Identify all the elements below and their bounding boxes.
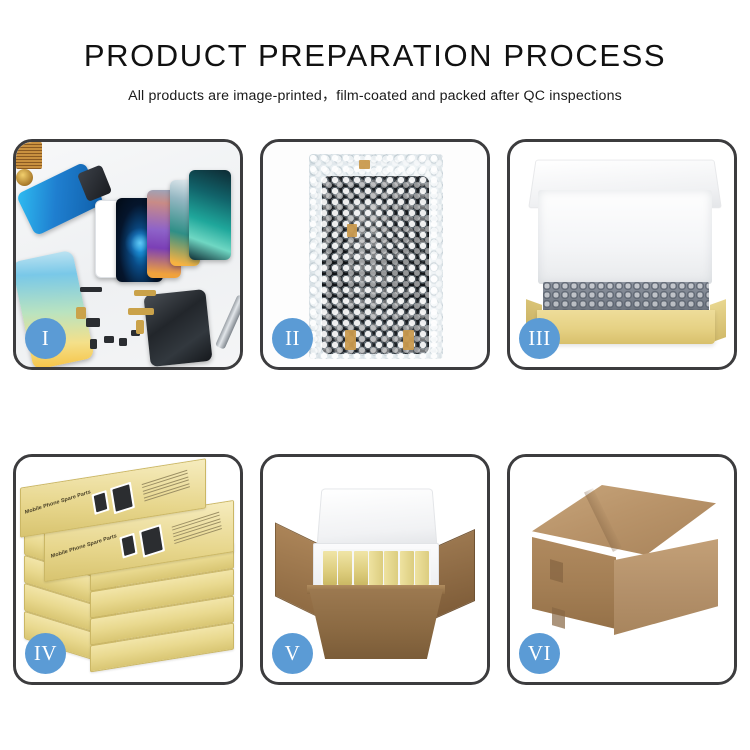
step-badge-1: I [25, 318, 66, 359]
process-step-panel-3: III [507, 139, 737, 370]
process-step-panel-5: V [260, 454, 490, 685]
foam-sheet [538, 190, 712, 284]
chip-part [86, 318, 100, 327]
carton-tape-lower [552, 607, 565, 629]
tape-tab [347, 224, 357, 237]
bubble-wrap-bag [309, 154, 443, 359]
green-gradient-phone [189, 170, 231, 260]
flex-cable-part [128, 308, 154, 315]
list-item [354, 551, 368, 585]
carton-right-face [614, 539, 718, 635]
chip-part [119, 338, 127, 346]
tape-tab [403, 330, 414, 350]
process-step-panel-1: I [13, 139, 243, 370]
process-step-panel-2: II [260, 139, 490, 370]
chip-part [104, 336, 114, 343]
box-window-left [119, 533, 137, 559]
flex-cable-part [134, 290, 156, 296]
product-preparation-process-page: PRODUCT PREPARATION PROCESS All products… [0, 0, 750, 750]
page-title: PRODUCT PREPARATION PROCESS [0, 40, 750, 73]
tape-tab [359, 160, 370, 169]
chip-part [80, 287, 102, 292]
list-item [369, 551, 383, 585]
list-item [400, 551, 414, 585]
foam-box-lid [316, 489, 437, 548]
speaker-module-part [16, 169, 33, 186]
carton-body [309, 589, 443, 659]
step-badge-3: III [519, 318, 560, 359]
logic-board-part [16, 142, 42, 169]
page-header: PRODUCT PREPARATION PROCESS All products… [0, 0, 750, 105]
chip-part [90, 339, 97, 349]
step-badge-2: II [272, 318, 313, 359]
bubble-texture-front [309, 154, 443, 359]
kraft-box-front [537, 310, 715, 344]
list-item [323, 551, 337, 585]
step-badge-4: IV [25, 633, 66, 674]
flex-cable-part [76, 307, 86, 319]
flex-cable-part [136, 320, 144, 334]
process-step-panel-6: VI [507, 454, 737, 685]
step-badge-6: VI [519, 633, 560, 674]
phone-back-shell-teardown [143, 289, 212, 367]
kraft-boxes-inside [321, 549, 431, 587]
step-badge-5: V [272, 633, 313, 674]
process-step-grid: I II [13, 139, 737, 684]
list-item [338, 551, 352, 585]
repair-tweezers [215, 294, 240, 349]
process-step-panel-4: Mobile Phone Spare Parts Mobile Phone Sp… [13, 454, 243, 685]
tape-tab [345, 330, 356, 350]
carton-tape-upper [550, 559, 563, 583]
list-item [384, 551, 398, 585]
page-subtitle: All products are image-printed，film-coat… [0, 85, 750, 105]
list-item [415, 551, 429, 585]
carton-left-face [532, 537, 616, 629]
